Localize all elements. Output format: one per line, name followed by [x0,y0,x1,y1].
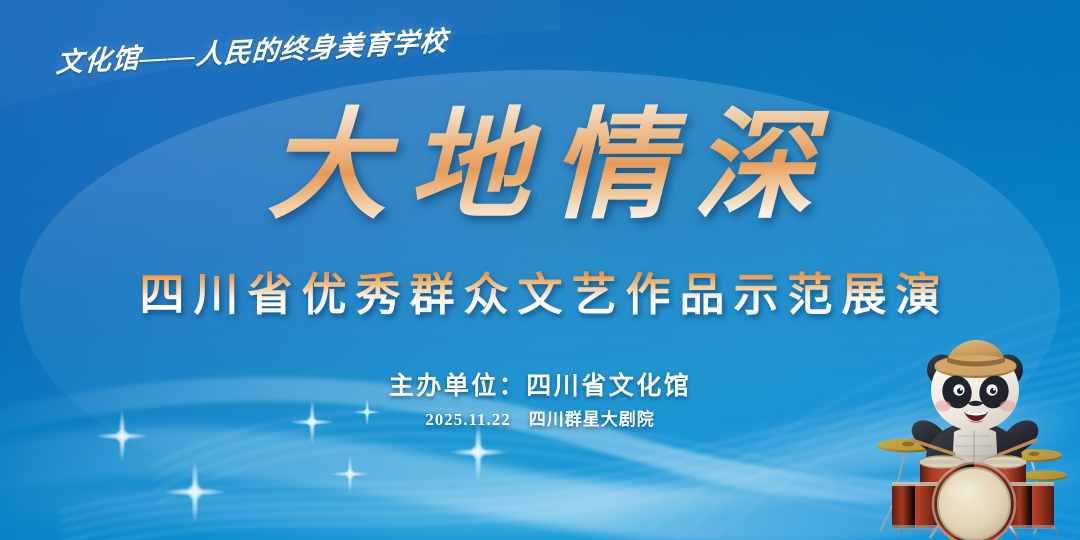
drum-kit [892,456,1054,540]
page-title: 大地情深 [0,96,1080,238]
panda-head [927,340,1023,431]
event-date: 2025.11.22 [425,410,511,429]
panda-drummer-mascot [868,336,1080,540]
floor-tom-right [1010,482,1054,529]
cymbal-right-lower [1021,470,1067,481]
subtitle-text: 四川省优秀群众文艺作品示范展演 [0,258,1080,323]
poster-canvas: 文化馆——人民的终身美育学校 大地情深 四川省优秀群众文艺作品示范展演 主办单位… [0,0,1080,540]
event-venue: 四川群星大剧院 [529,410,655,429]
bass-drum [932,462,1016,540]
floor-tom-left [892,482,938,529]
